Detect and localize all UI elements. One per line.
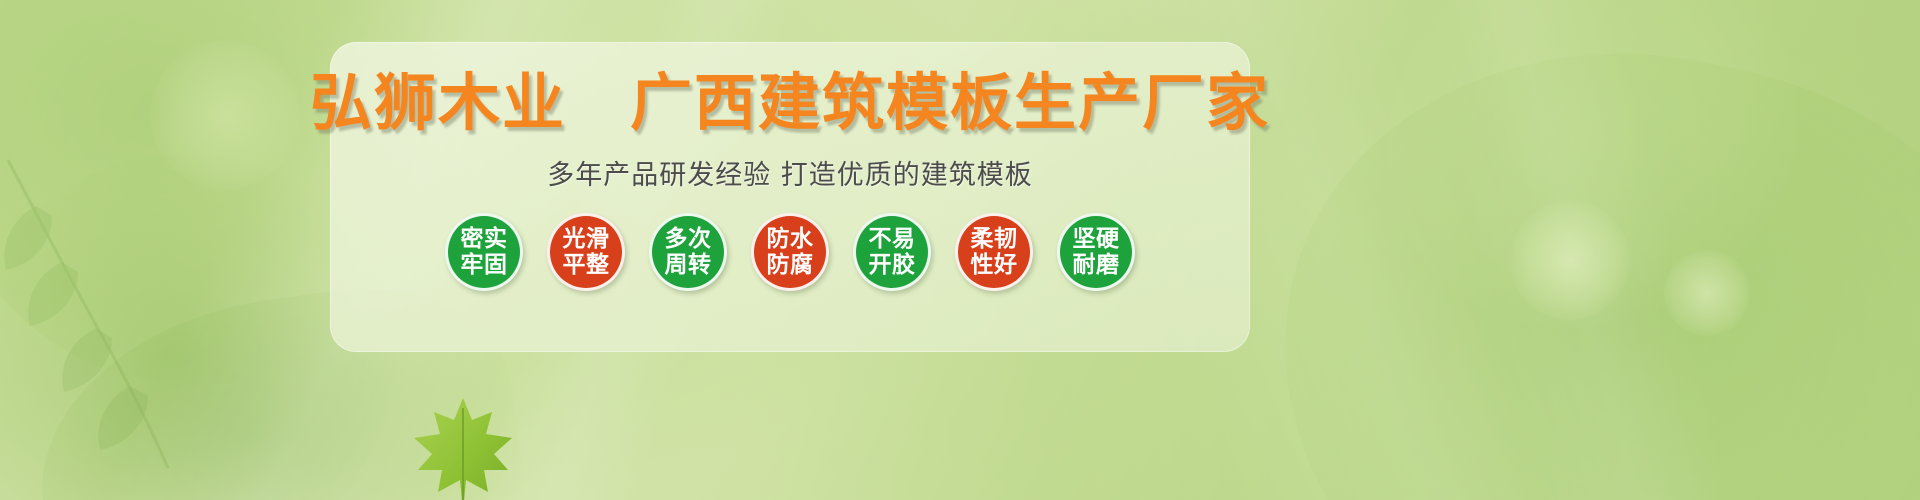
badge-line-1: 光滑 (563, 226, 610, 252)
badge-line-2: 牢固 (461, 252, 508, 278)
content-panel: 弘狮木业 广西建筑模板生产厂家 多年产品研发经验 打造优质的建筑模板 密实 牢固… (330, 42, 1250, 352)
branch-icon (0, 150, 260, 480)
badge-line-1: 防水 (767, 226, 814, 252)
feature-badge[interactable]: 光滑 平整 (547, 213, 625, 291)
badge-line-1: 不易 (869, 226, 916, 252)
badge-line-1: 坚硬 (1073, 226, 1120, 252)
feature-badge[interactable]: 坚硬 耐磨 (1057, 213, 1135, 291)
leaf-shape-bottom-right (1222, 0, 1920, 500)
badge-line-2: 性好 (971, 252, 1018, 278)
promo-banner: 弘狮木业 广西建筑模板生产厂家 多年产品研发经验 打造优质的建筑模板 密实 牢固… (0, 0, 1920, 500)
bokeh-circle-3 (150, 40, 300, 190)
bokeh-circle-2 (1664, 250, 1750, 336)
maple-leaf-icon (408, 394, 518, 500)
badge-line-1: 柔韧 (971, 226, 1018, 252)
light-streak-4 (1393, 0, 1766, 500)
badge-line-1: 密实 (461, 226, 508, 252)
badge-line-2: 周转 (665, 252, 712, 278)
feature-badge[interactable]: 密实 牢固 (445, 213, 523, 291)
feature-badge[interactable]: 多次 周转 (649, 213, 727, 291)
feature-badge[interactable]: 防水 防腐 (751, 213, 829, 291)
badge-line-2: 平整 (563, 252, 610, 278)
badge-line-2: 防腐 (767, 252, 814, 278)
feature-badge[interactable]: 柔韧 性好 (955, 213, 1033, 291)
page-title: 弘狮木业 广西建筑模板生产厂家 (310, 72, 1270, 134)
feature-badge[interactable]: 不易 开胶 (853, 213, 931, 291)
subtitle-text: 多年产品研发经验 打造优质的建筑模板 (547, 162, 1033, 189)
feature-badge-list: 密实 牢固 光滑 平整 多次 周转 防水 防腐 不易 开胶 (445, 213, 1135, 291)
badge-line-2: 开胶 (869, 252, 916, 278)
leaf-shape-top-right (1318, 0, 1862, 393)
bokeh-circle-1 (1510, 200, 1630, 320)
badge-line-1: 多次 (665, 226, 712, 252)
badge-line-2: 耐磨 (1073, 252, 1120, 278)
